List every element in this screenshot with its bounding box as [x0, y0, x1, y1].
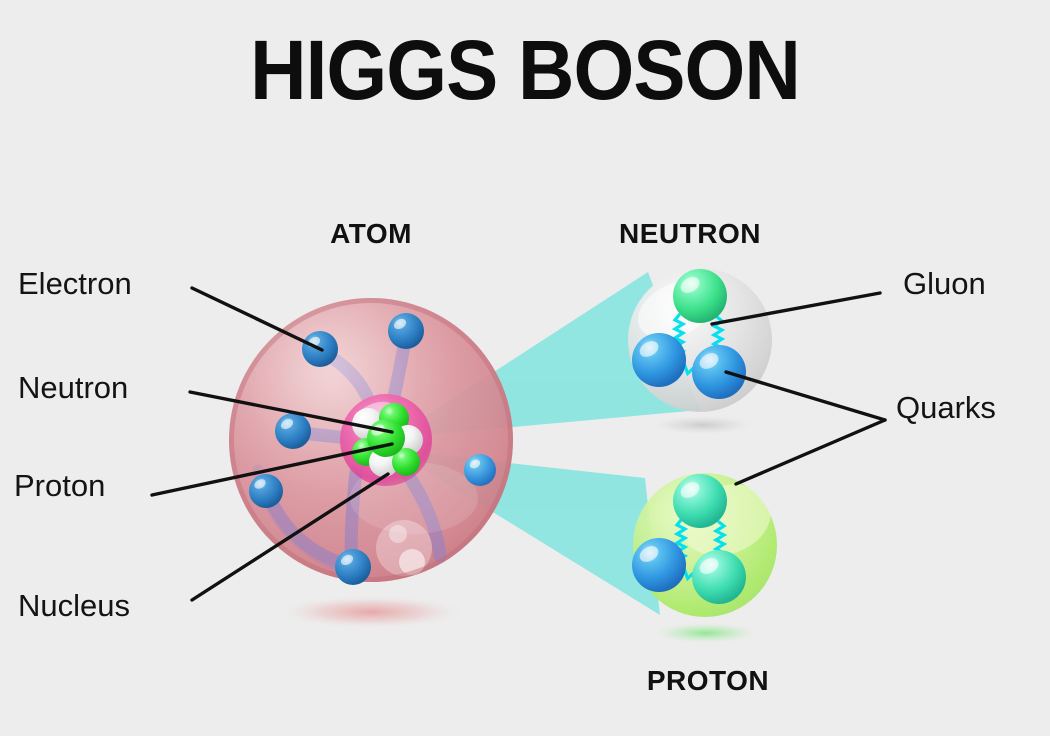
- proton-detail-group: [632, 472, 781, 617]
- nucleon-green: [367, 419, 405, 457]
- electron: [335, 549, 371, 585]
- leader-line-quarks-proton: [736, 420, 885, 484]
- quark-blue: [632, 538, 686, 592]
- proton-shadow: [650, 622, 762, 644]
- label-gluon: Gluon: [903, 268, 986, 299]
- quark-blue: [692, 345, 746, 399]
- quark-green: [692, 550, 746, 604]
- neutron-detail-group: [628, 268, 772, 412]
- electron: [249, 474, 283, 508]
- label-neutron: Neutron: [18, 372, 128, 403]
- electron: [464, 454, 496, 486]
- heading-atom: ATOM: [330, 218, 412, 250]
- atom-group: [229, 298, 513, 585]
- quark-green: [673, 269, 727, 323]
- label-electron: Electron: [18, 268, 132, 299]
- electron: [388, 313, 424, 349]
- quark-blue: [632, 333, 686, 387]
- heading-proton: PROTON: [647, 665, 769, 697]
- electron: [275, 413, 311, 449]
- label-proton: Proton: [14, 470, 105, 501]
- atom-shadow: [275, 595, 467, 629]
- quark-green: [673, 474, 727, 528]
- label-quarks: Quarks: [896, 392, 996, 423]
- leader-line-quarks-neutron: [726, 372, 885, 420]
- page-title: HIGGS BOSON: [37, 28, 1014, 112]
- neutron-shadow: [648, 415, 758, 435]
- heading-neutron: NEUTRON: [619, 218, 761, 250]
- diagram-canvas: HIGGS BOSON ATOM NEUTRON PROTON Electron…: [0, 0, 1050, 736]
- label-nucleus: Nucleus: [18, 590, 130, 621]
